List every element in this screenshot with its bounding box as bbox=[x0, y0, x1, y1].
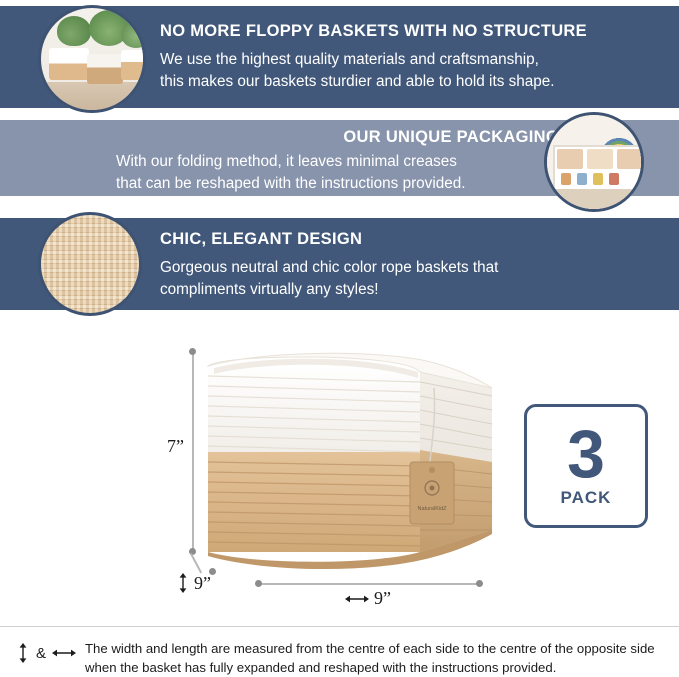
height-dimension-line bbox=[192, 352, 194, 552]
footnote-icons: & bbox=[16, 643, 76, 663]
feature-2-body-line-1: With our folding method, it leaves minim… bbox=[116, 152, 457, 172]
width-dimension-arrow-icon bbox=[345, 592, 369, 606]
feature-3-body-line-1: Gorgeous neutral and chic color rope bas… bbox=[160, 258, 498, 278]
playroom-shelf-photo bbox=[544, 112, 644, 212]
baskets-with-plants-photo bbox=[38, 5, 146, 113]
width-dimension-line bbox=[258, 583, 480, 585]
width-dimension-label: 9” bbox=[374, 588, 391, 609]
depth-dimension-arrow-icon bbox=[176, 573, 190, 593]
footnote-line-1: The width and length are measured from t… bbox=[85, 639, 665, 658]
pack-count-number: 3 bbox=[567, 424, 605, 485]
height-dimension-dot-top bbox=[189, 348, 196, 355]
feature-1-body-line-2: this makes our baskets sturdier and able… bbox=[160, 72, 555, 92]
measurement-footnote: & The width and length are measured from… bbox=[0, 626, 679, 673]
feature-3-body-line-2: compliments virtually any styles! bbox=[160, 280, 378, 300]
svg-text:NaturalKidZ: NaturalKidZ bbox=[417, 506, 447, 512]
depth-dimension-label: 9” bbox=[194, 573, 211, 594]
footnote-text: The width and length are measured from t… bbox=[85, 639, 665, 677]
height-dimension-label: 7” bbox=[167, 436, 184, 457]
width-dimension-dot-left bbox=[255, 580, 262, 587]
footnote-icon-separator: & bbox=[36, 645, 46, 662]
pack-count-badge: 3 PACK bbox=[524, 404, 648, 528]
vertical-arrow-icon bbox=[16, 643, 30, 663]
horizontal-arrow-icon bbox=[52, 646, 76, 660]
pack-count-label: PACK bbox=[561, 488, 612, 508]
feature-3-title: CHIC, ELEGANT DESIGN bbox=[160, 230, 362, 248]
feature-2-body-line-2: that can be reshaped with the instructio… bbox=[116, 174, 466, 194]
feature-1-title: NO MORE FLOPPY BASKETS WITH NO STRUCTURE bbox=[160, 22, 587, 40]
feature-2-title: OUR UNIQUE PACKAGING bbox=[343, 128, 559, 146]
feature-1-body-line-1: We use the highest quality materials and… bbox=[160, 50, 539, 70]
width-dimension-dot-right bbox=[476, 580, 483, 587]
rope-texture-photo bbox=[38, 212, 142, 316]
footnote-line-2: when the basket has fully expanded and r… bbox=[85, 658, 665, 677]
